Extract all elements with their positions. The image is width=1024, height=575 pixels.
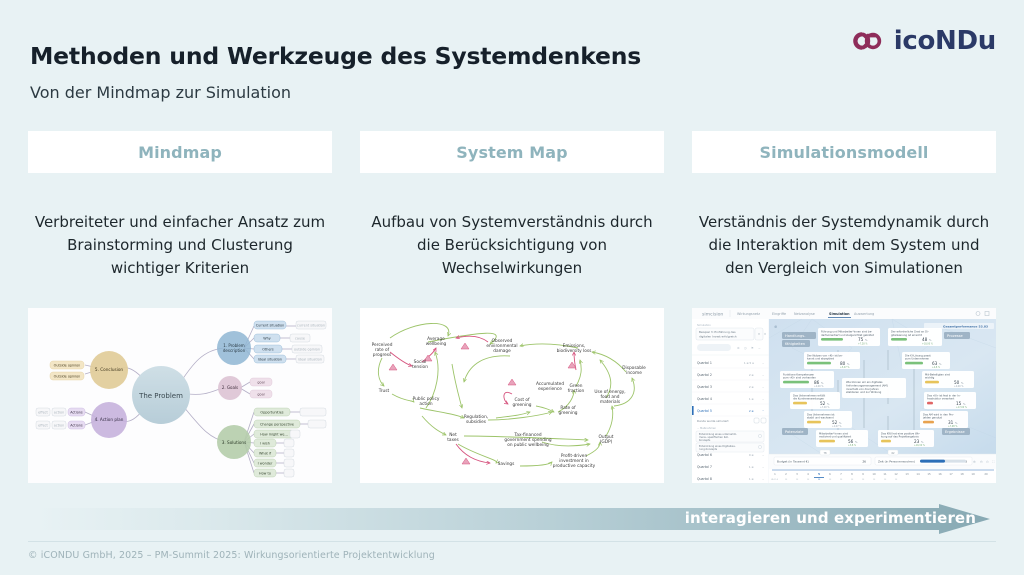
svg-text:Actions: Actions: [70, 424, 83, 428]
card-header-system-map: System Map: [360, 131, 664, 173]
card-header-label: Simulationsmodell: [759, 143, 928, 162]
svg-text:productive capacity: productive capacity: [553, 463, 596, 469]
svg-text:taxes: taxes: [447, 437, 459, 443]
page-title: Methoden und Werkzeuge des Systemdenkens: [30, 42, 641, 70]
svg-text:zum «KI» sind vorhanden: zum «KI» sind vorhanden: [783, 376, 816, 380]
svg-text:on public wellbeing: on public wellbeing: [507, 442, 549, 448]
svg-text:greening: greening: [558, 410, 577, 416]
card-header-simulationsmodell: Simulationsmodell: [692, 131, 996, 173]
svg-text:78: 78: [823, 452, 827, 455]
svg-text:10: 10: [872, 472, 876, 476]
interlocking-links-logo-icon: [851, 27, 885, 55]
svg-text:Budget (in Tausend €): Budget (in Tausend €): [777, 459, 809, 463]
footer-divider: [28, 541, 996, 542]
svg-text:wichtig: wichtig: [925, 376, 935, 380]
logo-wordmark: icoNDu: [894, 26, 996, 56]
page-subtitle: Von der Mindmap zur Simulation: [30, 83, 291, 102]
svg-text:damage: damage: [493, 348, 511, 354]
svg-text:action: action: [419, 401, 433, 407]
svg-text:⌄: ⌄: [762, 454, 764, 457]
svg-text:⌄: ⌄: [762, 374, 764, 377]
svg-text:Trust: Trust: [378, 388, 390, 394]
svg-text:Quartal 2: Quartal 2: [697, 373, 712, 377]
svg-text:17: 17: [949, 472, 953, 476]
svg-text:Potenziale: Potenziale: [785, 430, 804, 434]
svg-text:Auswertung: Auswertung: [854, 312, 874, 316]
svg-text:wellbeing: wellbeing: [426, 341, 447, 347]
svg-text:12: 12: [894, 472, 898, 476]
svg-text:18: 18: [960, 472, 964, 476]
svg-text:2. Goals: 2. Goals: [222, 385, 238, 390]
svg-text:rung-Konzepts: rung-Konzepts: [699, 447, 718, 451]
svg-text:⊙: ⊙: [986, 460, 989, 464]
svg-text:stabil und wachsend: stabil und wachsend: [807, 416, 834, 420]
svg-text:Zeit (in Personenwochen): Zeit (in Personenwochen): [878, 459, 915, 463]
svg-text:Opportunities: Opportunities: [260, 411, 283, 415]
svg-text:13: 13: [905, 472, 909, 476]
svg-text:⊙: ⊙: [771, 478, 773, 481]
svg-text:Anforderungsmanagement (AM): Anforderungsmanagement (AM): [846, 383, 888, 387]
simulation-model-thumbnail[interactable]: simcision WirkungsnetzEingriffe Netzanal…: [692, 308, 996, 483]
causal-loop-diagram: Perceivedrate ofprogress Averagewellbein…: [360, 308, 664, 483]
svg-text:Ergebnisse: Ergebnisse: [945, 430, 965, 434]
svg-text:Quartal 7: Quartal 7: [697, 465, 712, 469]
svg-text:Quartal 1: Quartal 1: [697, 361, 712, 365]
svg-text:Simulation: Simulation: [829, 312, 850, 316]
svg-text:jekten genutzt: jekten genutzt: [922, 416, 942, 420]
svg-text:experience: experience: [538, 386, 562, 392]
svg-text:5: 5: [818, 472, 820, 476]
svg-text:I wonder: I wonder: [258, 462, 273, 466]
mindmap-thumbnail[interactable]: The Problem 1. Problem description 2. Go…: [28, 308, 332, 483]
card-header-label: Mindmap: [138, 143, 222, 162]
svg-text:digitalen Invest erfolgreich: digitalen Invest erfolgreich: [699, 335, 737, 339]
svg-text:Beispiel 3: Einführung des: Beispiel 3: Einführung des: [699, 330, 736, 334]
svg-text:4. Action plan: 4. Action plan: [95, 417, 124, 422]
svg-text:⌄: ⌄: [762, 478, 764, 481]
svg-text:14 14: 14 14: [772, 479, 778, 481]
svg-text:Gesamtperformance 53.03: Gesamtperformance 53.03: [943, 324, 988, 328]
svg-text:+7,00 %: +7,00 %: [820, 406, 829, 409]
svg-text:1 ⊕: 1 ⊕: [749, 397, 754, 401]
brand-logo: icoNDu: [851, 26, 996, 56]
column-mindmap: Mindmap Verbreiteter und einfacher Ansat…: [28, 131, 332, 279]
svg-text:⌄: ⌄: [762, 466, 764, 469]
svg-text:Change perspective: Change perspective: [260, 423, 294, 427]
svg-text:fähigkeiten: fähigkeiten: [785, 342, 805, 346]
svg-text:Wie können wir ein digitales: Wie können wir ein digitales: [846, 380, 883, 384]
svg-text:1 ⊕ 5 ⊖: 1 ⊕ 5 ⊖: [744, 361, 754, 365]
svg-text:Quartal 5: Quartal 5: [697, 409, 712, 413]
svg-text:Quartal 3: Quartal 3: [697, 385, 712, 389]
svg-text:Others: Others: [262, 348, 274, 352]
system-map-thumbnail[interactable]: Perceivedrate ofprogress Averagewellbein…: [360, 308, 664, 483]
svg-text:greening: greening: [512, 402, 531, 408]
svg-text:innerhalb von drei Jahren: innerhalb von drei Jahren: [846, 387, 879, 391]
svg-text:Konzepts: Konzepts: [699, 438, 711, 442]
svg-text:⊖: ⊖: [980, 460, 983, 464]
svg-text:Quartal 8: Quartal 8: [697, 477, 712, 481]
svg-text:2 ⊕: 2 ⊕: [749, 385, 754, 389]
svg-text:description: description: [223, 348, 246, 353]
svg-text:⌄: ⌄: [762, 398, 764, 401]
svg-text:Netzanalyse: Netzanalyse: [794, 312, 815, 316]
svg-text:tension: tension: [412, 364, 428, 370]
svg-text:goal: goal: [257, 381, 264, 385]
svg-text:cause: cause: [295, 337, 305, 341]
svg-text:How might we...: How might we...: [260, 433, 288, 437]
svg-text:+0,00 %: +0,00 %: [954, 385, 963, 388]
svg-text:+3,8 %: +3,8 %: [848, 444, 856, 447]
svg-text:Handlungs-: Handlungs-: [785, 334, 806, 338]
svg-text:+7,28 %: +7,28 %: [858, 343, 867, 346]
progress-arrow-label: interagieren und experimentieren: [685, 509, 976, 527]
svg-text:Why: Why: [263, 337, 271, 341]
card-description-mindmap: Verbreiteter und einfacher Ansatz zum Br…: [28, 211, 332, 279]
svg-text:What if: What if: [259, 452, 272, 456]
svg-text:5. Conclusion: 5. Conclusion: [95, 367, 123, 372]
svg-text:⌄: ⌄: [762, 362, 764, 365]
svg-text:0 ⊕: 0 ⊕: [749, 453, 754, 457]
svg-text:I wish: I wish: [260, 442, 270, 446]
svg-text:⊕: ⊕: [774, 324, 777, 329]
svg-text:⊕: ⊕: [973, 460, 976, 464]
svg-text:subsidies: subsidies: [466, 419, 487, 425]
svg-text:motiviert und qualifiziert: motiviert und qualifiziert: [819, 435, 851, 439]
svg-text:⌃: ⌃: [762, 410, 764, 413]
simcision-app-screenshot: simcision WirkungsnetzEingriffe Netzanal…: [692, 308, 996, 483]
svg-text:⌄ Maßnahmen: ⌄ Maßnahmen: [697, 426, 716, 430]
svg-text:Simulation: Simulation: [697, 323, 711, 327]
svg-text:zum Unternehmen: zum Unternehmen: [905, 357, 930, 361]
svg-text:16: 16: [938, 472, 942, 476]
svg-text:⚑: ⚑: [751, 346, 754, 350]
svg-text:Current situation: Current situation: [256, 324, 285, 328]
svg-text:income: income: [626, 370, 642, 376]
svg-text:current situation: current situation: [297, 324, 325, 328]
svg-text:Savings: Savings: [498, 461, 516, 467]
svg-text:simcision: simcision: [702, 311, 723, 317]
svg-text:Quartal 4: Quartal 4: [697, 397, 712, 401]
svg-text:1 ⊕: 1 ⊕: [749, 465, 754, 469]
svg-text:Actions: Actions: [70, 411, 83, 415]
svg-text:Outside opinion: Outside opinion: [54, 364, 81, 368]
svg-text:75: 75: [858, 337, 864, 342]
svg-text:etablieren und zur Wirkung: etablieren und zur Wirkung: [846, 390, 882, 394]
svg-text:+0,00 %: +0,00 %: [814, 385, 823, 388]
svg-text:(GDP): (GDP): [600, 439, 613, 445]
svg-text:+17,00 %: +17,00 %: [956, 406, 967, 409]
svg-text:How to: How to: [259, 472, 271, 476]
svg-text:Quartal 6: Quartal 6: [697, 453, 712, 457]
svg-text:◷: ◷: [744, 346, 747, 350]
svg-text:⌄: ⌄: [762, 386, 764, 389]
svg-text:11: 11: [883, 472, 887, 476]
svg-text:frastruktur verankert: frastruktur verankert: [927, 397, 954, 401]
svg-text:26: 26: [862, 459, 866, 463]
card-header-label: System Map: [456, 143, 567, 162]
svg-text:fraction: fraction: [568, 388, 585, 394]
svg-text:Eingriffe: Eingriffe: [772, 312, 786, 316]
svg-text:+5,07 %: +5,07 %: [840, 366, 849, 369]
card-description-system-map: Aufbau von Systemverständnis durch die B…: [360, 211, 664, 279]
svg-text:1 ⊕: 1 ⊕: [749, 477, 754, 481]
svg-text:Runde wurde simuliert: Runde wurde simuliert: [697, 419, 729, 423]
svg-text:19: 19: [971, 472, 975, 476]
svg-text:2 ⊕: 2 ⊕: [749, 373, 754, 377]
svg-text:Prozesse: Prozesse: [947, 334, 964, 338]
svg-text:Wirkungsnetz: Wirkungsnetz: [737, 312, 760, 316]
svg-text:effect: effect: [38, 411, 48, 415]
svg-text:gitalisierung ist erreicht: gitalisierung ist erreicht: [891, 333, 922, 337]
card-description-simulationsmodell: Verständnis der Systemdynamik durch die …: [692, 211, 996, 279]
svg-text:20: 20: [984, 472, 988, 476]
footer-text: © iCONDU GmbH, 2025 – PM-Summit 2025: Wi…: [28, 550, 435, 561]
svg-text:48: 48: [922, 337, 928, 342]
svg-text:+16,34 %: +16,34 %: [914, 444, 925, 447]
svg-text:darfsorientiert und zielgerich: darfsorientiert und zielgerichtet gebild…: [821, 333, 874, 337]
svg-text:+7,98 %: +7,98 %: [948, 425, 957, 428]
svg-text:action: action: [54, 411, 64, 415]
card-header-mindmap: Mindmap: [28, 131, 332, 173]
mindmap-illustration: The Problem 1. Problem description 2. Go…: [28, 308, 332, 483]
svg-text:action: action: [54, 424, 64, 428]
svg-text:Ideal situation: Ideal situation: [258, 358, 282, 362]
svg-text:3. Solutions: 3. Solutions: [222, 440, 247, 445]
svg-text:15: 15: [927, 472, 931, 476]
svg-text:2 ⊕: 2 ⊕: [749, 409, 754, 413]
svg-text:⚙: ⚙: [737, 346, 740, 350]
svg-text:goal: goal: [257, 393, 264, 397]
svg-text:+18,00 %: +18,00 %: [922, 343, 933, 346]
svg-text:The Problem: The Problem: [138, 392, 183, 400]
svg-text:ideal situation: ideal situation: [298, 358, 322, 362]
svg-text:effect: effect: [38, 424, 48, 428]
svg-text:materials: materials: [600, 399, 621, 405]
svg-text:+0,07 %: +0,07 %: [832, 425, 841, 428]
svg-text:outside opinion: outside opinion: [294, 348, 320, 352]
svg-text:×: ×: [764, 332, 767, 336]
svg-text:+4,8 %: +4,8 %: [932, 366, 940, 369]
column-system-map: System Map Aufbau von Systemverständnis …: [360, 131, 664, 279]
svg-text:14: 14: [916, 472, 920, 476]
svg-text:Outside opinion: Outside opinion: [54, 375, 81, 379]
column-simulationsmodell: Simulationsmodell Verständnis der System…: [692, 131, 996, 279]
svg-text:biodiversity loss: biodiversity loss: [557, 348, 593, 354]
svg-text:progress: progress: [373, 352, 392, 358]
svg-text:kannt und akzeptiert: kannt und akzeptiert: [807, 357, 834, 361]
svg-text:62: 62: [891, 452, 895, 455]
